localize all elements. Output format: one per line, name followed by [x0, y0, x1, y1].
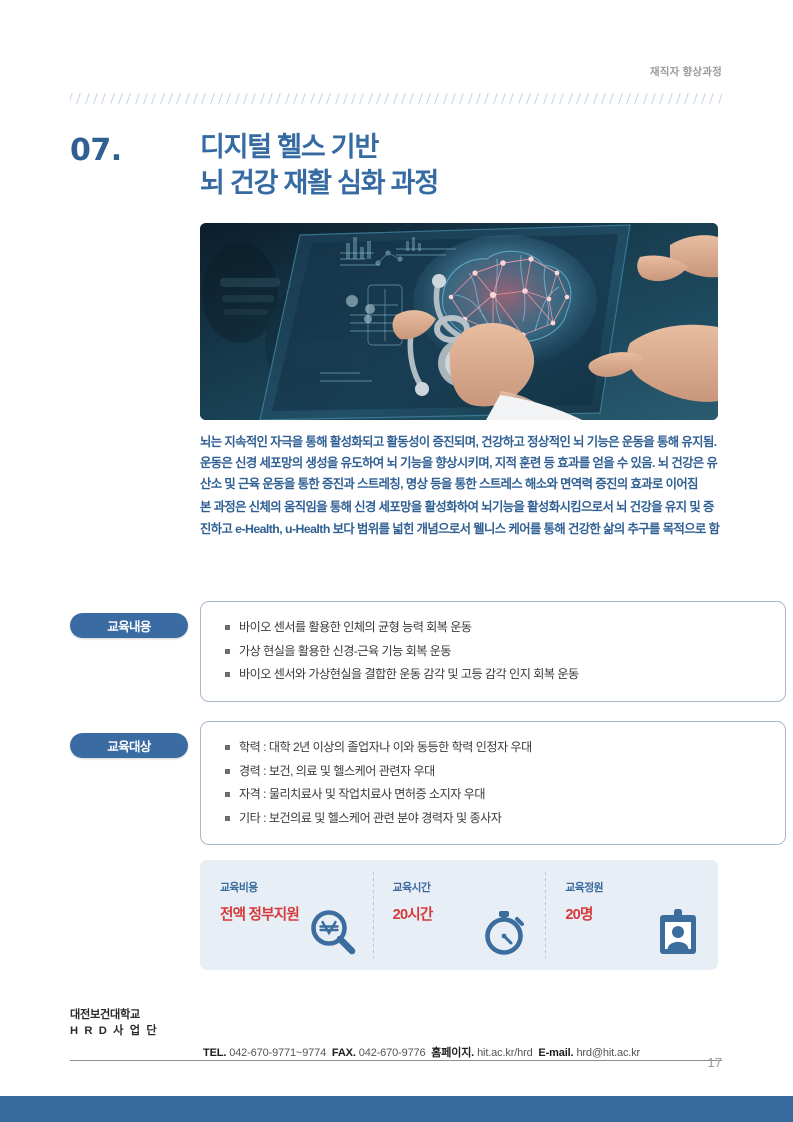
course-description: 뇌는 지속적인 자극을 통해 활성화되고 활동성이 증진되며, 건강하고 정상적… [200, 432, 720, 540]
list-item: 경력 : 보건, 의료 및 헬스케어 관련자 우대 [225, 760, 767, 784]
list-item: 바이오 센서와 가상현실을 결합한 운동 감각 및 고등 감각 인지 회복 운동 [225, 663, 767, 687]
hero-image [200, 223, 718, 420]
course-number: 07. [70, 133, 122, 168]
info-cell-hours: 교육시간 20시간 [373, 860, 546, 970]
list-item: 학력 : 대학 2년 이상의 졸업자나 이와 동등한 학력 인정자 우대 [225, 736, 767, 760]
decorative-tick-divider [70, 93, 722, 105]
curriculum-panel: 바이오 센서를 활용한 인체의 균형 능력 회복 운동 가상 현실을 활용한 신… [200, 601, 786, 702]
info-cell-capacity: 교육정원 20명 [545, 860, 718, 970]
info-label-capacity: 교육정원 [565, 879, 718, 895]
page-title: 디지털 헬스 기반 뇌 건강 재활 심화 과정 [200, 130, 720, 202]
brochure-page: 재직자 향상과정 07. 디지털 헬스 기반 뇌 건강 재활 심화 과정 [0, 0, 793, 1122]
curriculum-list: 바이오 센서를 활용한 인체의 균형 능력 회복 운동 가상 현실을 활용한 신… [225, 616, 767, 687]
page-number: 17 [0, 1055, 722, 1070]
category-label: 재직자 향상과정 [0, 64, 722, 79]
list-item: 바이오 센서를 활용한 인체의 균형 능력 회복 운동 [225, 616, 767, 640]
target-list: 학력 : 대학 2년 이상의 졸업자나 이와 동등한 학력 인정자 우대 경력 … [225, 736, 767, 830]
list-item: 가상 현실을 활용한 신경-근육 기능 회복 운동 [225, 640, 767, 664]
bottom-color-bar [0, 1096, 793, 1122]
won-magnifier-icon [307, 906, 359, 958]
organization-name: 대전보건대학교 H R D 사 업 단 [70, 1008, 158, 1040]
list-item: 기타 : 보건의료 및 헬스케어 관련 분야 경력자 및 종사자 [225, 807, 767, 831]
page-title-line1: 디지털 헬스 기반 [200, 132, 378, 162]
info-label-hours: 교육시간 [393, 879, 546, 895]
description-paragraph-1: 뇌는 지속적인 자극을 통해 활성화되고 활동성이 증진되며, 건강하고 정상적… [200, 432, 720, 495]
section-badge-curriculum: 교육내용 [70, 613, 188, 638]
info-cell-cost: 교육비용 전액 정부지원 [200, 860, 373, 970]
id-card-person-icon [652, 906, 704, 958]
target-panel: 학력 : 대학 2년 이상의 졸업자나 이와 동등한 학력 인정자 우대 경력 … [200, 721, 786, 845]
organization-line2: H R D 사 업 단 [70, 1024, 158, 1040]
section-badge-target: 교육대상 [70, 733, 188, 758]
info-label-cost: 교육비용 [220, 879, 373, 895]
course-info-strip: 교육비용 전액 정부지원 교육시간 20시간 [200, 860, 718, 970]
stopwatch-icon [479, 906, 531, 958]
hero-illustration [200, 223, 718, 420]
page-title-line2: 뇌 건강 재활 심화 과정 [200, 166, 720, 202]
list-item: 자격 : 물리치료사 및 작업치료사 면허증 소지자 우대 [225, 783, 767, 807]
description-paragraph-2: 본 과정은 신체의 움직임을 통해 신경 세포망을 활성화하여 뇌기능을 활성화… [200, 497, 720, 539]
organization-line1: 대전보건대학교 [70, 1008, 158, 1024]
